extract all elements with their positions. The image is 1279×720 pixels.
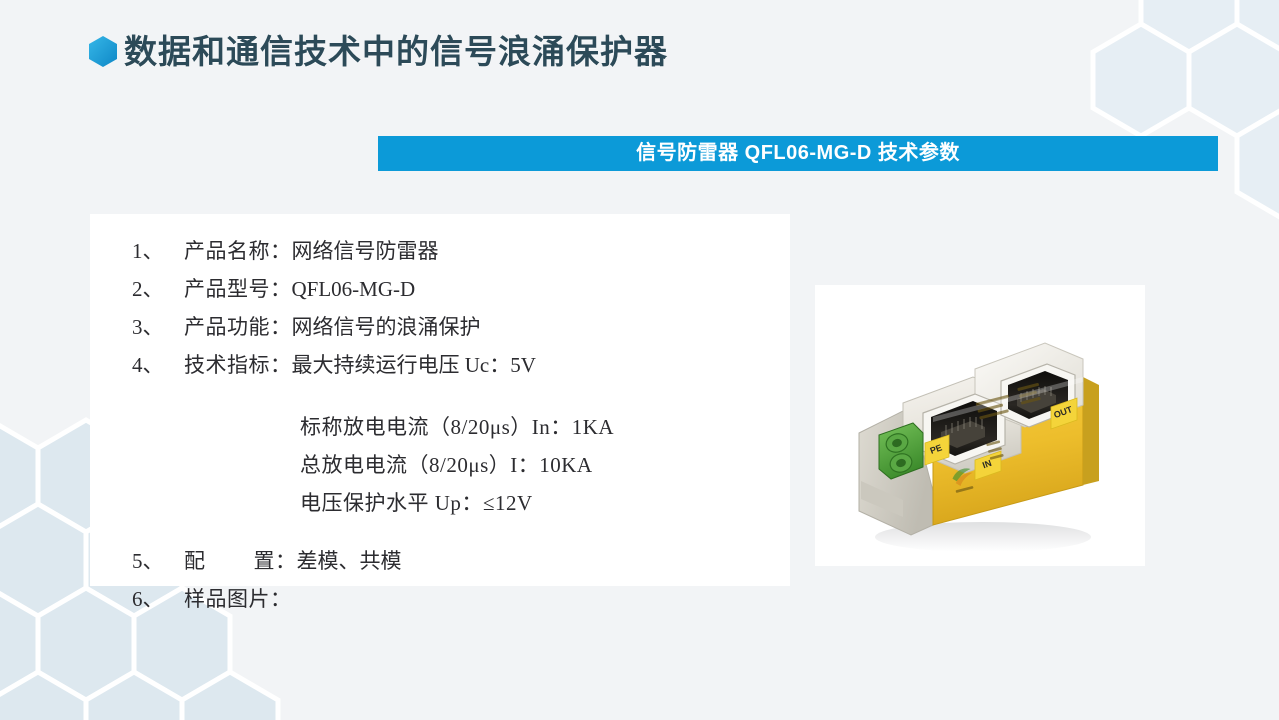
spec-index: 6、 (132, 580, 184, 618)
spec-row: 2、 产品型号： QFL06-MG-D (132, 270, 780, 308)
surge-protector-device-illustration: IN OUT PE (815, 285, 1145, 566)
device-right-end (1083, 377, 1099, 485)
spec-label: 技术指标： (184, 346, 292, 384)
spec-value: 网络信号防雷器 (292, 232, 439, 270)
spec-index: 2、 (132, 270, 184, 308)
specification-list: 1、 产品名称： 网络信号防雷器 2、 产品型号： QFL06-MG-D 3、 … (132, 232, 780, 618)
hexagon-icon (88, 35, 118, 68)
product-photo-card: QFL06-MG-D 网络信号防雷器样品照片 (815, 285, 1145, 566)
spec-label: 配置： (184, 542, 297, 580)
spec-value: 差模、共模 (297, 542, 402, 580)
spec-value-model: QFL06-MG-D (292, 270, 416, 308)
product-photo-stage: IN OUT PE (815, 285, 1145, 566)
spec-index: 5、 (132, 542, 184, 580)
specification-card: 1、 产品名称： 网络信号防雷器 2、 产品型号： QFL06-MG-D 3、 … (90, 214, 790, 586)
page-title: 数据和通信技术中的信号浪涌保护器 (124, 25, 668, 73)
parameter-banner-title: 信号防雷器 QFL06-MG-D 技术参数 (636, 143, 960, 163)
spec-label-part-b: 置： (254, 549, 297, 573)
spec-row: 1、 产品名称： 网络信号防雷器 (132, 232, 780, 270)
sub-spec-item: 总放电电流（8/20μs）I：10KA (300, 446, 780, 484)
spec-index: 3、 (132, 308, 184, 346)
slide-header: 数据和通信技术中的信号浪涌保护器 (0, 0, 1279, 92)
spec-label: 产品名称： (184, 232, 292, 270)
sub-spec-item: 电压保护水平 Up：≤12V (300, 484, 780, 522)
spec-row: 4、 技术指标： 最大持续运行电压 Uc：5V (132, 346, 780, 384)
spec-tail-group: 5、 配置： 差模、共模 6、 样品图片： (132, 542, 780, 618)
sub-spec-group: 标称放电电流（8/20μs）In：1KA 总放电电流（8/20μs）I：10KA… (132, 408, 780, 522)
spec-index: 1、 (132, 232, 184, 270)
spec-row: 5、 配置： 差模、共模 (132, 542, 780, 580)
spec-row: 6、 样品图片： (132, 580, 780, 618)
sub-spec-item: 标称放电电流（8/20μs）In：1KA (300, 408, 780, 446)
spec-label: 产品功能： (184, 308, 292, 346)
spec-row: 3、 产品功能： 网络信号的浪涌保护 (132, 308, 780, 346)
spec-index: 4、 (132, 346, 184, 384)
spec-label-part-a: 配 (184, 549, 206, 573)
parameter-banner: 信号防雷器 QFL06-MG-D 技术参数 (378, 136, 1218, 171)
spec-value: 网络信号的浪涌保护 (292, 308, 481, 346)
spec-label: 样品图片： (184, 580, 292, 618)
spec-value: 最大持续运行电压 Uc：5V (292, 346, 536, 384)
spec-label: 产品型号： (184, 270, 292, 308)
